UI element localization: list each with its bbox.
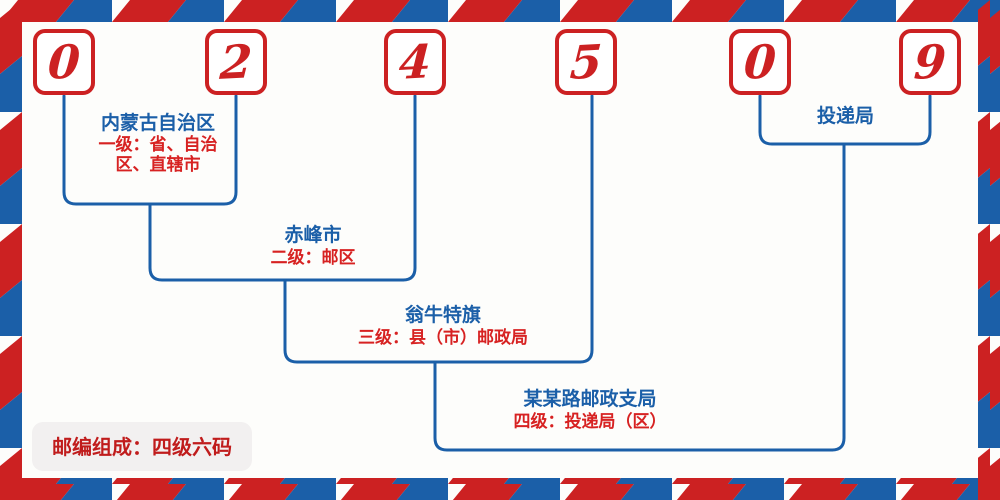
digit-card-5[interactable]: 0 — [729, 29, 791, 95]
digit-glyph-4: 5 — [569, 38, 604, 86]
node-title-county: 翁牛特旗 — [294, 304, 592, 326]
hierarchy-node-county: 翁牛特旗 三级：县（市）邮政局 — [294, 304, 592, 348]
digit-card-2[interactable]: 2 — [205, 29, 267, 95]
hierarchy-node-postal-district: 赤峰市 二级：邮区 — [198, 224, 428, 268]
node-sub-branch-office: 四级：投递局（区） — [440, 412, 740, 432]
digit-card-3[interactable]: 4 — [384, 29, 446, 95]
hierarchy-node-province: 内蒙古自治区 一级：省、自治区、直辖市 — [68, 112, 248, 176]
node-title-branch-office: 某某路邮政支局 — [440, 388, 740, 410]
digit-card-4[interactable]: 5 — [555, 29, 617, 95]
digit-glyph-1: 0 — [47, 38, 82, 86]
node-sub-county: 三级：县（市）邮政局 — [294, 328, 592, 348]
node-title-postal-district: 赤峰市 — [198, 224, 428, 246]
hierarchy-node-delivery-office: 投递局 — [758, 105, 933, 127]
digit-card-1[interactable]: 0 — [33, 29, 95, 95]
node-title-province: 内蒙古自治区 — [68, 112, 248, 134]
digit-glyph-5: 0 — [743, 38, 778, 86]
node-sub-province: 一级：省、自治区、直辖市 — [83, 136, 233, 175]
digit-card-6[interactable]: 9 — [899, 29, 961, 95]
postal-code-diagram: 0 2 4 5 0 9 内蒙古自治区 一级：省、自治区、直辖市 赤峰市 二级：邮… — [0, 0, 1000, 500]
hierarchy-node-branch-office: 某某路邮政支局 四级：投递局（区） — [440, 388, 740, 432]
digit-glyph-2: 2 — [219, 38, 254, 86]
postal-code-composition-chip: 邮编组成：四级六码 — [32, 422, 252, 471]
digit-glyph-3: 4 — [398, 38, 433, 86]
digit-glyph-6: 9 — [913, 38, 948, 86]
node-sub-postal-district: 二级：邮区 — [198, 248, 428, 268]
stem-delivery-to-level-4 — [832, 144, 844, 450]
node-title-delivery-office: 投递局 — [758, 105, 933, 127]
